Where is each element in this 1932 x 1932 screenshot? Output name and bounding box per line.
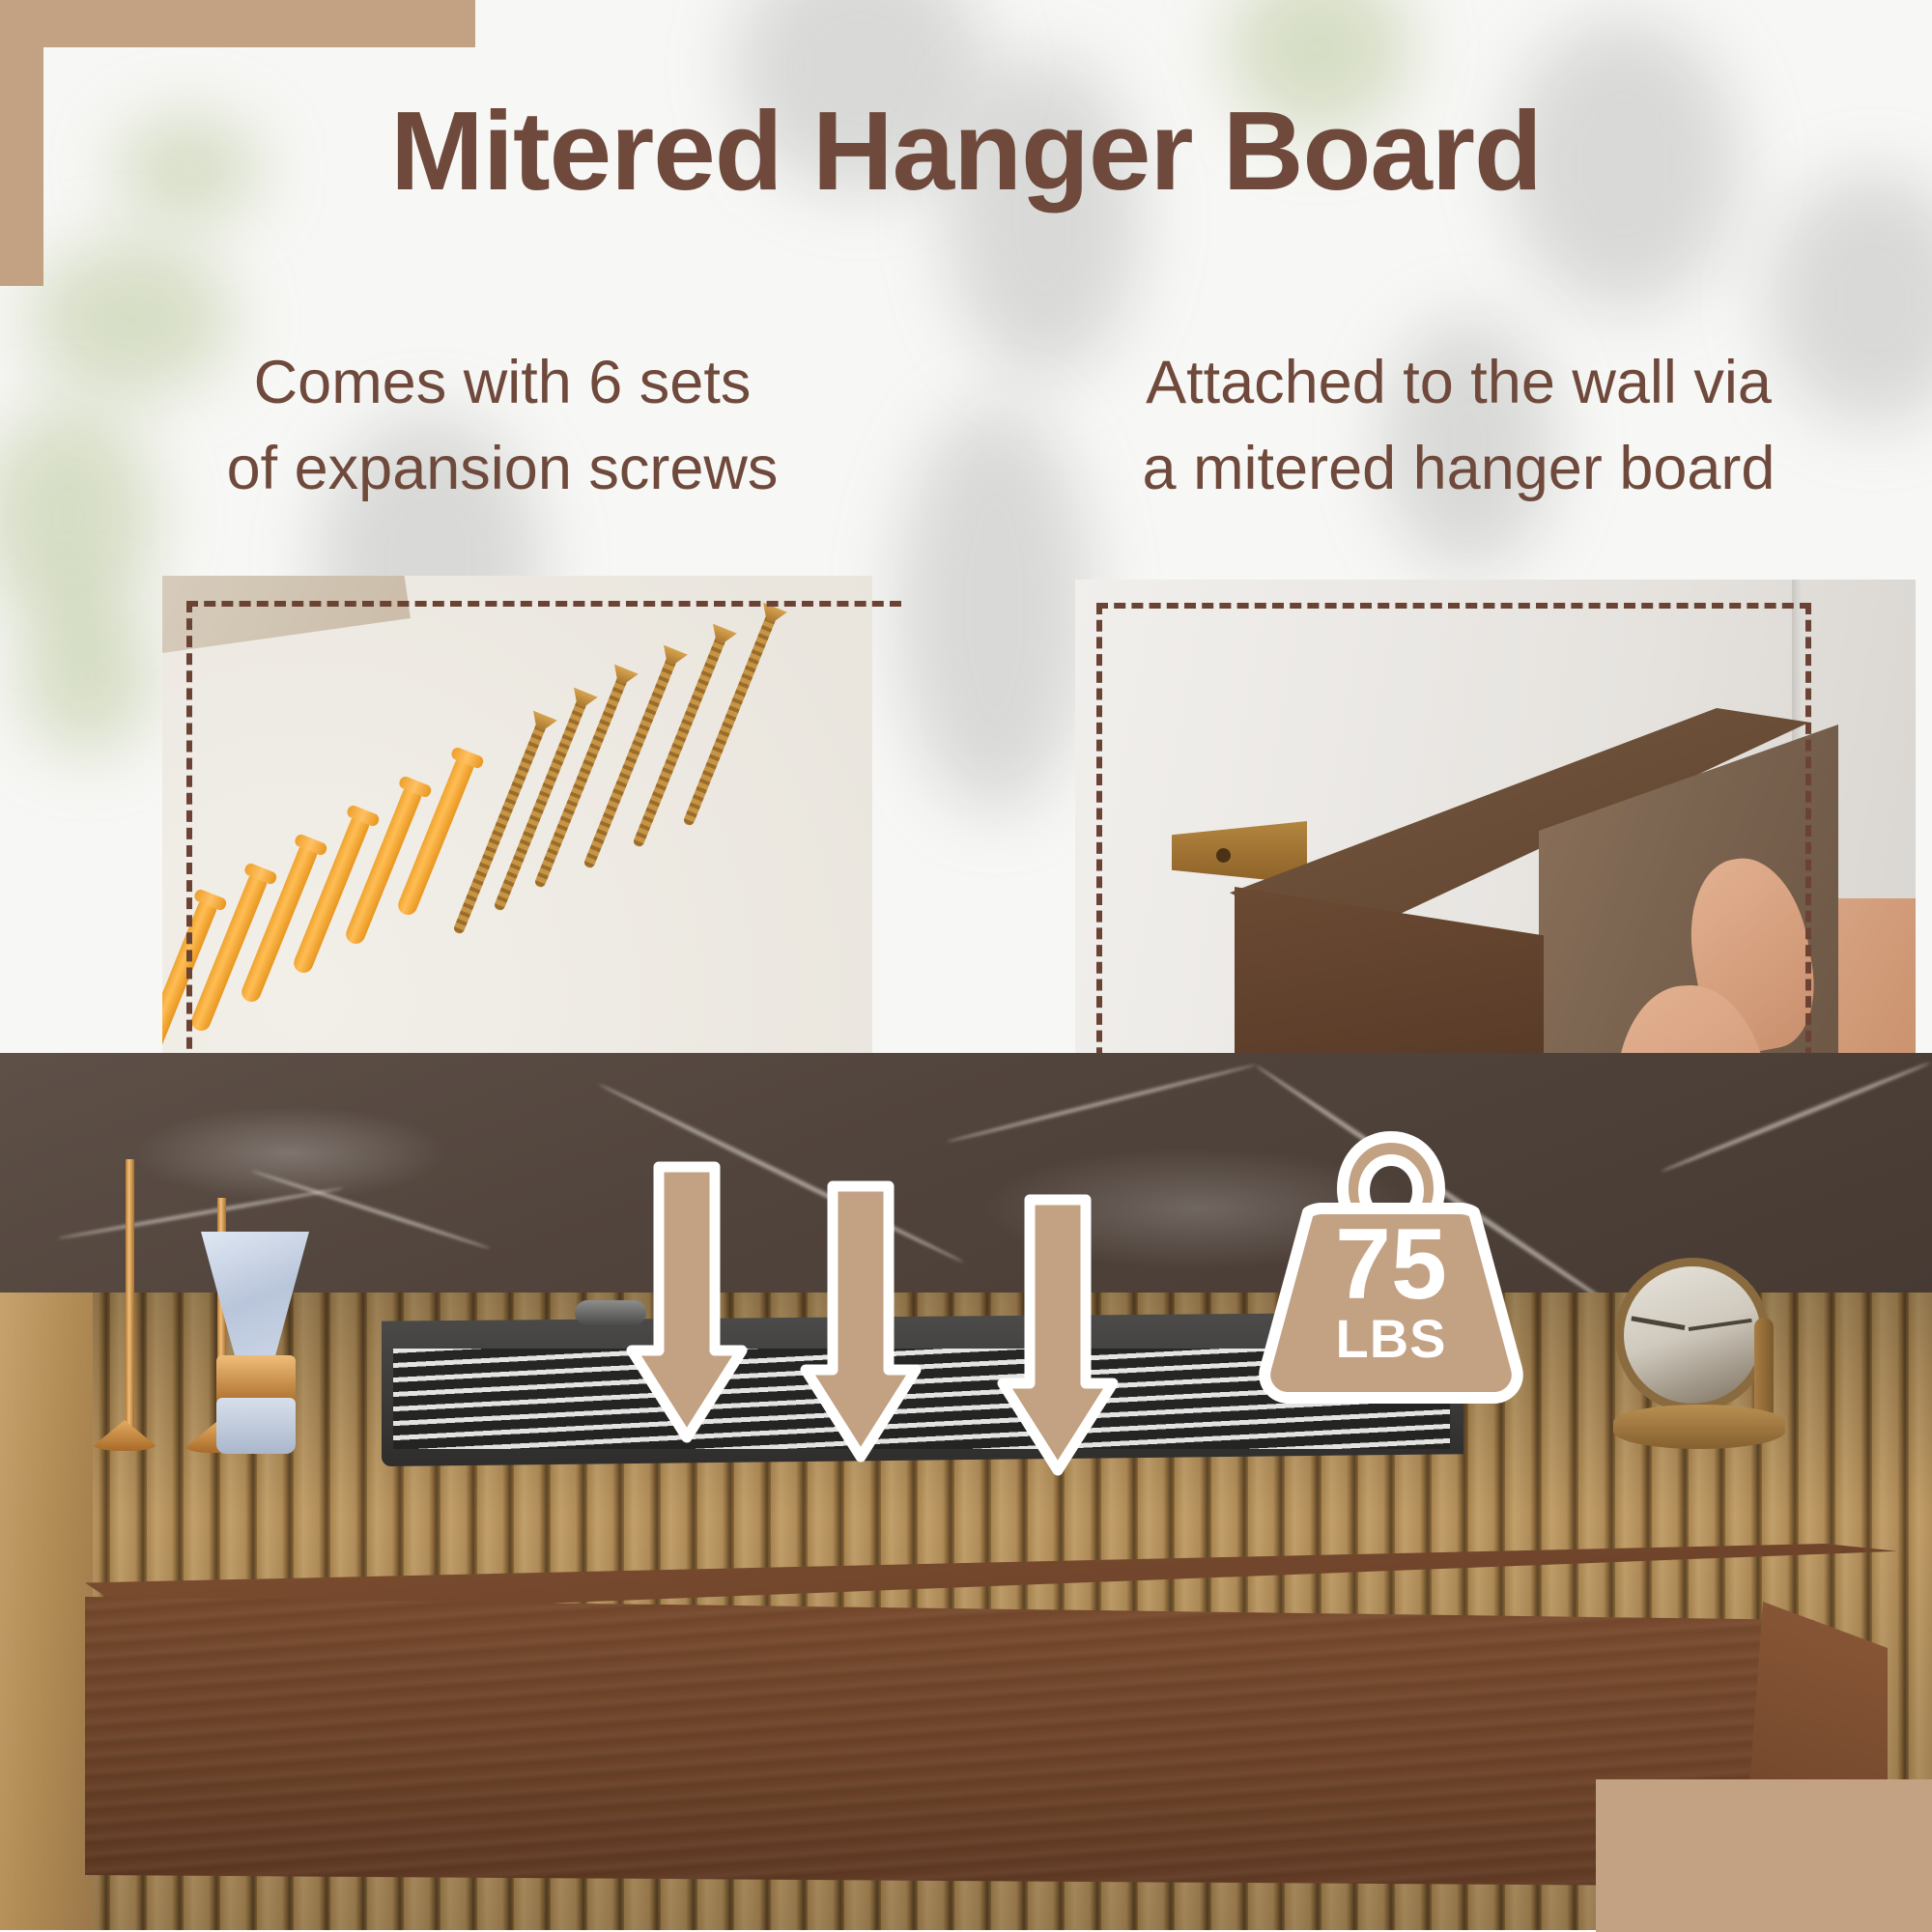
corner-accent-bottom-right [1596,1779,1932,1932]
marble-vein [947,1063,1257,1144]
vase-glass-foot [216,1398,296,1454]
candlestick-tall [116,1159,145,1449]
shelf-front-panel [85,1597,1814,1887]
load-arrow-2 [798,1179,923,1468]
marble-vein [1661,1061,1931,1174]
feature-caption-line: a mitered hanger board [1005,426,1913,512]
vase-cone [201,1232,309,1367]
page-title: Mitered Hanger Board [0,93,1932,211]
left-wood-panel [0,1293,93,1930]
desk-clock [1592,1258,1804,1451]
load-arrow-3 [995,1192,1121,1482]
weight-unit: LBS [1336,1313,1447,1364]
feature-photo-expansion-screws [162,576,872,1100]
feature-caption-line: Attached to the wall via [1005,340,1913,426]
feature-caption-mitered-hanger-board: Attached to the wall via a mitered hange… [1005,340,1913,513]
feature-caption-expansion-screws: Comes with 6 sets of expansion screws [126,340,879,513]
clock-dial [1615,1258,1770,1412]
corner-accent-horizontal [0,0,475,47]
weight-value: 75 [1335,1217,1447,1313]
weight-capacity-badge: 75 LBS [1246,1116,1536,1406]
feature-caption-line: of expansion screws [126,426,879,512]
cleat-screw-hole-icon [1216,848,1231,863]
load-arrow-1 [624,1159,750,1449]
leaf-shadow-icon [19,599,155,753]
photo-background [162,576,872,1100]
clock-stand [1613,1405,1785,1449]
wood-grain-texture [85,1597,1814,1887]
clock-post [1754,1318,1774,1420]
candlestick-stem [126,1159,134,1449]
feature-caption-line: Comes with 6 sets [126,340,879,426]
glass-vase [193,1232,319,1454]
feature-photo-mitered-hanger-board [1075,580,1916,1055]
